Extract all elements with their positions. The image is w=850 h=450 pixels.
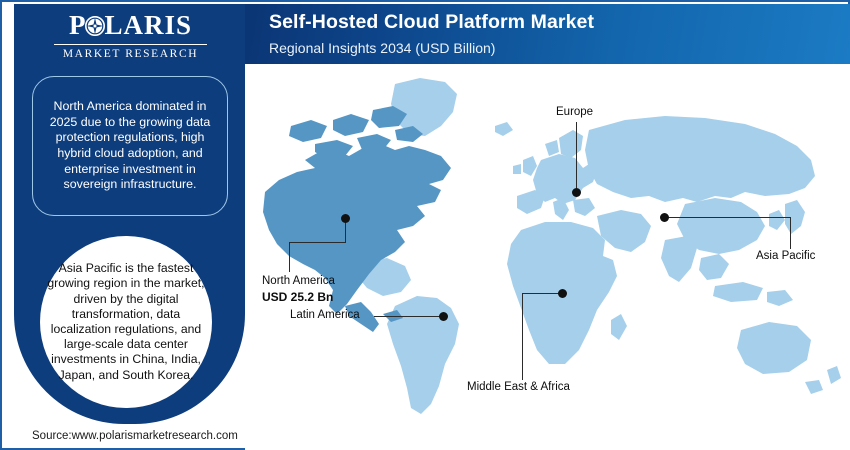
source-text: Source:www.polarismarketresearch.com (32, 430, 238, 442)
map-dot-north-america (341, 214, 350, 223)
leader-line-asia-pacific-v (790, 217, 791, 249)
leader-line-mea-v (522, 293, 523, 380)
map-dot-europe (572, 188, 581, 197)
brand-logo: PLARIS MARKET RESEARCH (48, 10, 213, 60)
map-label-asia-pacific: Asia Pacific (756, 250, 815, 262)
map-dot-asia-pacific (660, 213, 669, 222)
header-band: Self-Hosted Cloud Platform Market Region… (245, 4, 850, 64)
map-label-europe: Europe (556, 106, 593, 118)
leader-line-mea-h (522, 293, 561, 294)
brand-name-part1: P (69, 10, 87, 40)
logo-divider (54, 44, 207, 45)
leader-line-latin-america-h (374, 316, 442, 317)
leader-line-asia-pacific-h (664, 217, 791, 218)
world-map: North America USD 25.2 Bn Europe Asia Pa… (245, 64, 850, 450)
map-dot-middle-east-africa (558, 289, 567, 298)
north-america-callout: North America dominated in 2025 due to t… (32, 76, 228, 216)
brand-name-part2: LARIS (104, 10, 192, 40)
north-america-callout-text: North America dominated in 2025 due to t… (33, 99, 227, 193)
brand-name: PLARIS (48, 10, 213, 42)
infographic-page: PLARIS MARKET RESEARCH North America dom… (0, 0, 850, 450)
map-base-regions (357, 78, 841, 414)
map-label-latin-america: Latin America (290, 309, 360, 321)
leader-line-north-america-h (289, 242, 346, 243)
compass-star-icon (85, 12, 105, 42)
page-title: Self-Hosted Cloud Platform Market (269, 11, 594, 34)
map-label-north-america: North America (262, 275, 335, 287)
page-subtitle: Regional Insights 2034 (USD Billion) (269, 40, 495, 56)
map-dot-latin-america (439, 312, 448, 321)
brand-tagline: MARKET RESEARCH (48, 48, 213, 60)
map-label-middle-east-africa: Middle East & Africa (467, 381, 570, 393)
leader-line-europe-v (576, 122, 577, 190)
asia-pacific-callout: Asia Pacific is the fastest growing regi… (40, 236, 212, 408)
asia-pacific-callout-text: Asia Pacific is the fastest growing regi… (40, 261, 212, 383)
leader-line-north-america-v2 (289, 242, 290, 272)
map-value-north-america: USD 25.2 Bn (262, 290, 333, 304)
